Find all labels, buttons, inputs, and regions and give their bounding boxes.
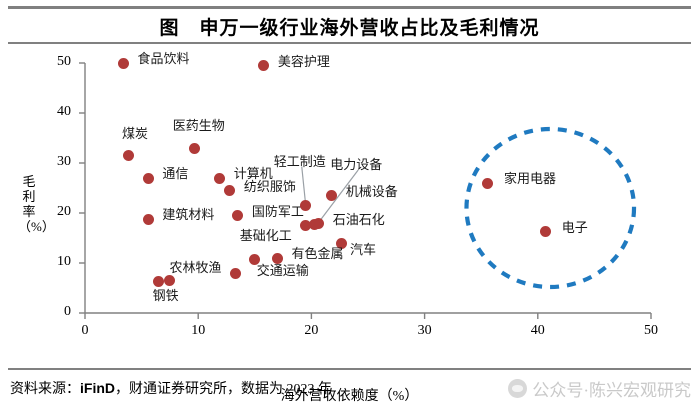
- point-label: 电力设备: [330, 154, 382, 173]
- y-tick-label: 0: [41, 304, 71, 320]
- point-label: 钢铁: [153, 285, 179, 304]
- point-label: 通信: [162, 163, 188, 182]
- point-label: 家用电器: [504, 168, 556, 187]
- point-label: 建筑材料: [162, 204, 214, 223]
- y-tick-label: 50: [41, 54, 71, 70]
- x-tick-label: 40: [518, 323, 558, 339]
- y-tick-label: 10: [41, 254, 71, 270]
- highlight-ellipse: [466, 129, 634, 287]
- point-label: 医药生物: [173, 115, 225, 134]
- plot-canvas: [0, 44, 699, 364]
- point-label: 煤炭: [122, 123, 148, 142]
- data-point: [118, 58, 129, 69]
- x-tick-label: 50: [631, 323, 671, 339]
- point-label: 机械设备: [346, 181, 398, 200]
- top-rule: [8, 6, 691, 9]
- figure-page: 图 申万一级行业海外营收占比及毛利情况 毛利率（%） 海外营收依赖度（%） 01…: [0, 0, 699, 417]
- y-tick-label: 40: [41, 104, 71, 120]
- y-tick-label: 20: [41, 204, 71, 220]
- x-tick-label: 20: [291, 323, 331, 339]
- data-point: [123, 150, 134, 161]
- x-tick-label: 30: [405, 323, 445, 339]
- scatter-plot: 毛利率（%） 海外营收依赖度（%） 01020304050 0102030405…: [0, 44, 699, 364]
- point-label: 电子: [562, 217, 588, 236]
- y-tick-label: 30: [41, 154, 71, 170]
- x-tick-label: 0: [65, 323, 105, 339]
- x-tick-label: 10: [178, 323, 218, 339]
- point-label: 纺织服饰: [244, 176, 296, 195]
- source-suffix: ，财通证券研究所，数据为 2023 年: [115, 382, 332, 397]
- point-label: 国防军工: [252, 201, 304, 220]
- point-label: 轻工制造: [274, 151, 326, 170]
- data-point: [214, 173, 225, 184]
- point-label: 美容护理: [278, 51, 330, 70]
- point-label: 基础化工: [240, 225, 292, 244]
- y-axis-title: 毛利率（%）: [18, 174, 40, 234]
- wechat-icon: [508, 379, 527, 398]
- data-point: [189, 143, 200, 154]
- footer-rule: [8, 368, 691, 370]
- source-note: 资料来源：iFinD，财通证券研究所，数据为 2023 年: [10, 378, 332, 398]
- point-label: 汽车: [350, 239, 376, 258]
- point-label: 农林牧渔: [170, 257, 222, 276]
- source-provider: iFinD: [80, 380, 115, 396]
- point-label: 食品饮料: [137, 48, 189, 67]
- data-point: [143, 173, 154, 184]
- data-point: [143, 214, 154, 225]
- watermark: 公众号·陈兴宏观研究: [508, 376, 691, 401]
- point-label: 交通运输: [257, 260, 309, 279]
- data-point: [482, 178, 493, 189]
- watermark-text: 公众号·陈兴宏观研究: [532, 376, 691, 401]
- page-title: 图 申万一级行业海外营收占比及毛利情况: [0, 12, 699, 40]
- source-prefix: 资料来源：: [10, 382, 80, 397]
- point-label: 石油石化: [333, 209, 385, 228]
- data-point: [230, 268, 241, 279]
- annotation-layer: [466, 129, 634, 287]
